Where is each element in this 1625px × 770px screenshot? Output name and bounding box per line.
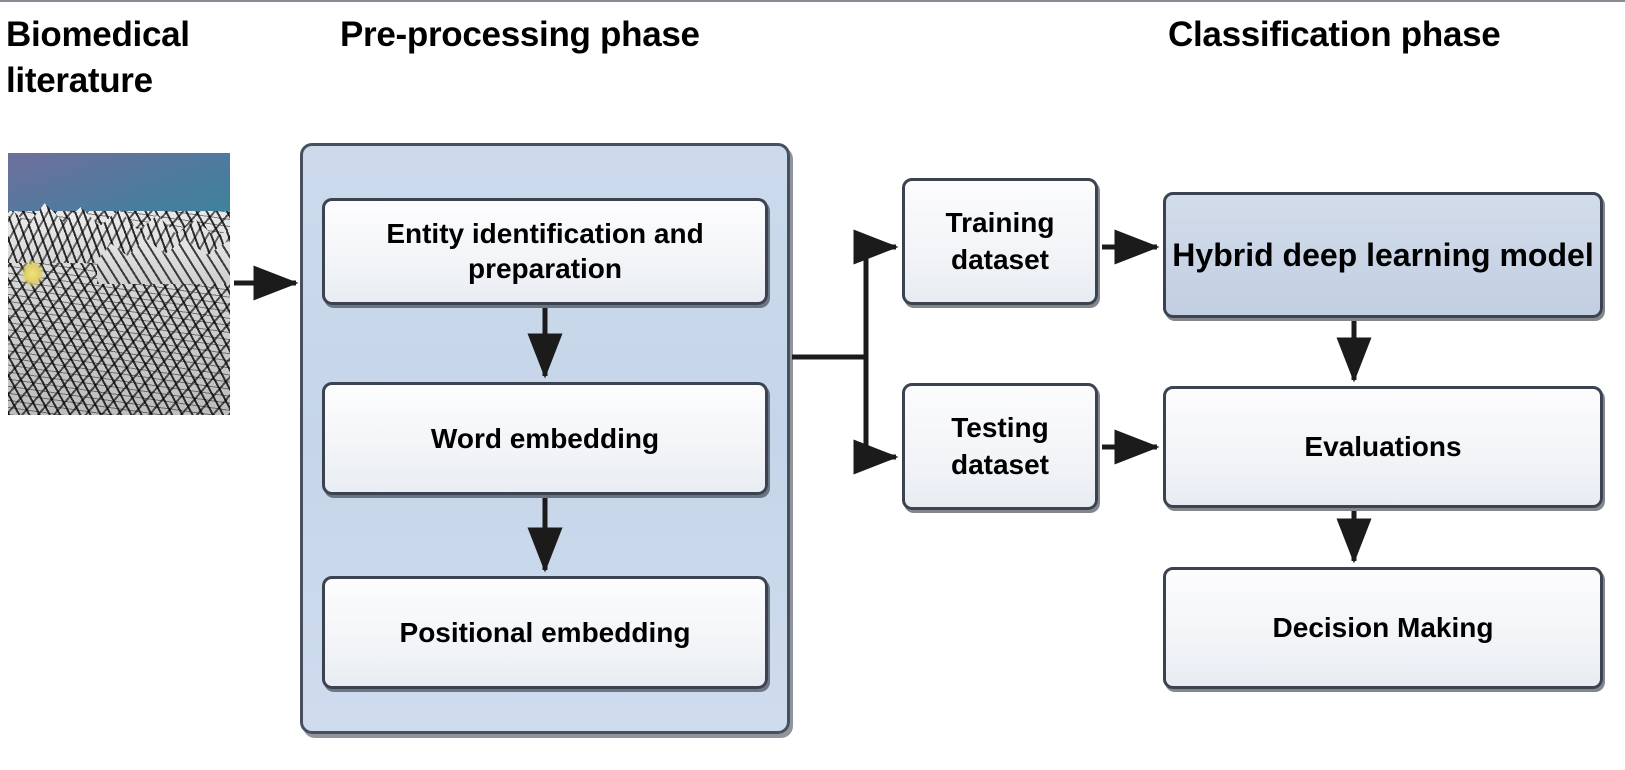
box-word-embedding[interactable]: Word embedding [322,382,768,495]
biomedical-literature-image [8,153,230,415]
box-hybrid-deep-learning-model[interactable]: Hybrid deep learning model [1163,192,1603,318]
diagram-canvas: Biomedical literature Pre-processing pha… [0,0,1625,770]
page-title-classification-phase: Classification phase [1168,12,1608,58]
box-testing-dataset[interactable]: Testing dataset [902,383,1098,510]
box-decision-making[interactable]: Decision Making [1163,567,1603,689]
page-title-preprocessing-phase: Pre-processing phase [340,12,770,58]
box-entity-identification[interactable]: Entity identification and preparation [322,198,768,305]
arrow-preprocessing-split [792,247,896,457]
box-evaluations[interactable]: Evaluations [1163,386,1603,508]
box-training-dataset[interactable]: Training dataset [902,178,1098,305]
box-positional-embedding[interactable]: Positional embedding [322,576,768,689]
paper-highlight-spot [21,260,43,286]
page-title-biomedical-literature: Biomedical literature [6,12,286,104]
